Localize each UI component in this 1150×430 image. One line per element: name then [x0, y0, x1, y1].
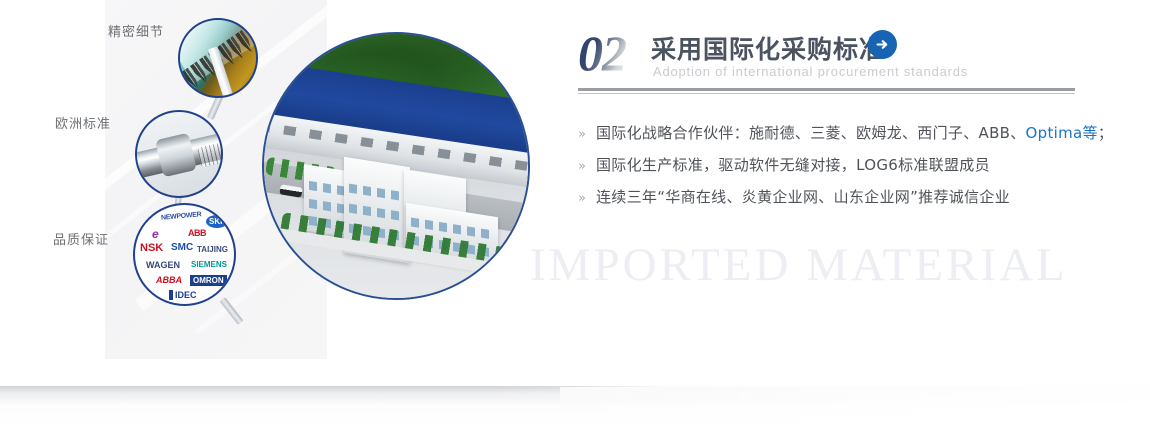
label-european-standard: 欧洲标准: [55, 113, 111, 132]
bottom-shadow-band: [0, 386, 1150, 430]
content-column: 02 采用国际化采购标准 Adoption of international p…: [578, 22, 1098, 94]
list-item-lead: 国际化生产标准，驱动软件无缝对接，LOG6标准联盟成员: [596, 156, 990, 174]
promo-banner: NEWPOWER SKF e ABB NSK SMC TAIJING WAGEN…: [0, 0, 1150, 430]
section-number: 02: [578, 28, 626, 78]
brand-logo-taijing: TAIJING: [197, 245, 228, 254]
lens-precision-detail-image: [178, 18, 258, 98]
list-item-text: 国际化生产标准，驱动软件无缝对接，LOG6标准联盟成员: [596, 154, 990, 175]
list-item-text: 国际化战略合作伙伴：施耐德、三菱、欧姆龙、西门子、ABB、Optima等；: [596, 122, 1113, 143]
list-item-tail: ；: [1098, 124, 1113, 142]
page-title: 采用国际化采购标准: [651, 30, 885, 66]
chevron-double-right-icon: »: [578, 191, 596, 206]
lens-european-standard-image: [135, 110, 223, 198]
list-item-text: 连续三年“华商在线、炎黄企业网、山东企业网”推荐诚信企业: [596, 186, 1010, 207]
brand-logo-idec: IDEC: [169, 290, 197, 300]
label-precision-detail: 精密细节: [108, 21, 164, 40]
brand-logo-newpower: NEWPOWER: [161, 211, 202, 221]
header-divider: [578, 88, 1075, 91]
brand-logo-wagen: WAGEN: [146, 260, 180, 270]
window-row: [349, 204, 405, 222]
chevron-double-right-icon: »: [578, 159, 596, 174]
brand-logo-siemens: SIEMENS: [191, 260, 227, 269]
watermark-text: IMPORTED MATERIAL: [530, 238, 1068, 292]
window-row: [349, 184, 405, 202]
header-divider-thin: [578, 93, 1075, 94]
chevron-double-right-icon: »: [578, 127, 596, 142]
list-item-accent: Optima等: [1026, 124, 1098, 142]
feature-list: » 国际化战略合作伙伴：施耐德、三菱、欧姆龙、西门子、ABB、Optima等； …: [578, 122, 1098, 218]
list-item-lead: 连续三年“华商在线、炎黄企业网、山东企业网”推荐诚信企业: [596, 188, 1010, 206]
lens-quality-assurance-brands: NEWPOWER SKF e ABB NSK SMC TAIJING WAGEN…: [133, 203, 236, 306]
list-item: » 连续三年“华商在线、炎黄企业网、山东企业网”推荐诚信企业: [578, 186, 1098, 207]
factory-aerial-photo: [262, 32, 530, 300]
page-subtitle: Adoption of international procurement st…: [653, 64, 968, 79]
label-quality-assurance: 品质保证: [53, 229, 109, 248]
band-highlight: [560, 381, 1150, 409]
brand-logo-abba: ABBA: [156, 275, 182, 285]
brand-logo-skf: SKF: [206, 215, 228, 228]
list-item: » 国际化生产标准，驱动软件无缝对接，LOG6标准联盟成员: [578, 154, 1098, 175]
list-item: » 国际化战略合作伙伴：施耐德、三菱、欧姆龙、西门子、ABB、Optima等；: [578, 122, 1098, 143]
brand-logo-e: e: [152, 227, 159, 241]
brand-logo-nsk: NSK: [140, 242, 163, 254]
section-header: 02 采用国际化采购标准 Adoption of international p…: [578, 22, 1098, 94]
arrow-right-icon[interactable]: [868, 30, 897, 59]
brand-logo-smc: SMC: [171, 242, 193, 253]
brand-logo-abb: ABB: [188, 228, 206, 238]
brand-logo-omron: OMRON: [190, 275, 227, 286]
list-item-lead: 国际化战略合作伙伴：施耐德、三菱、欧姆龙、西门子、ABB、: [596, 124, 1026, 142]
